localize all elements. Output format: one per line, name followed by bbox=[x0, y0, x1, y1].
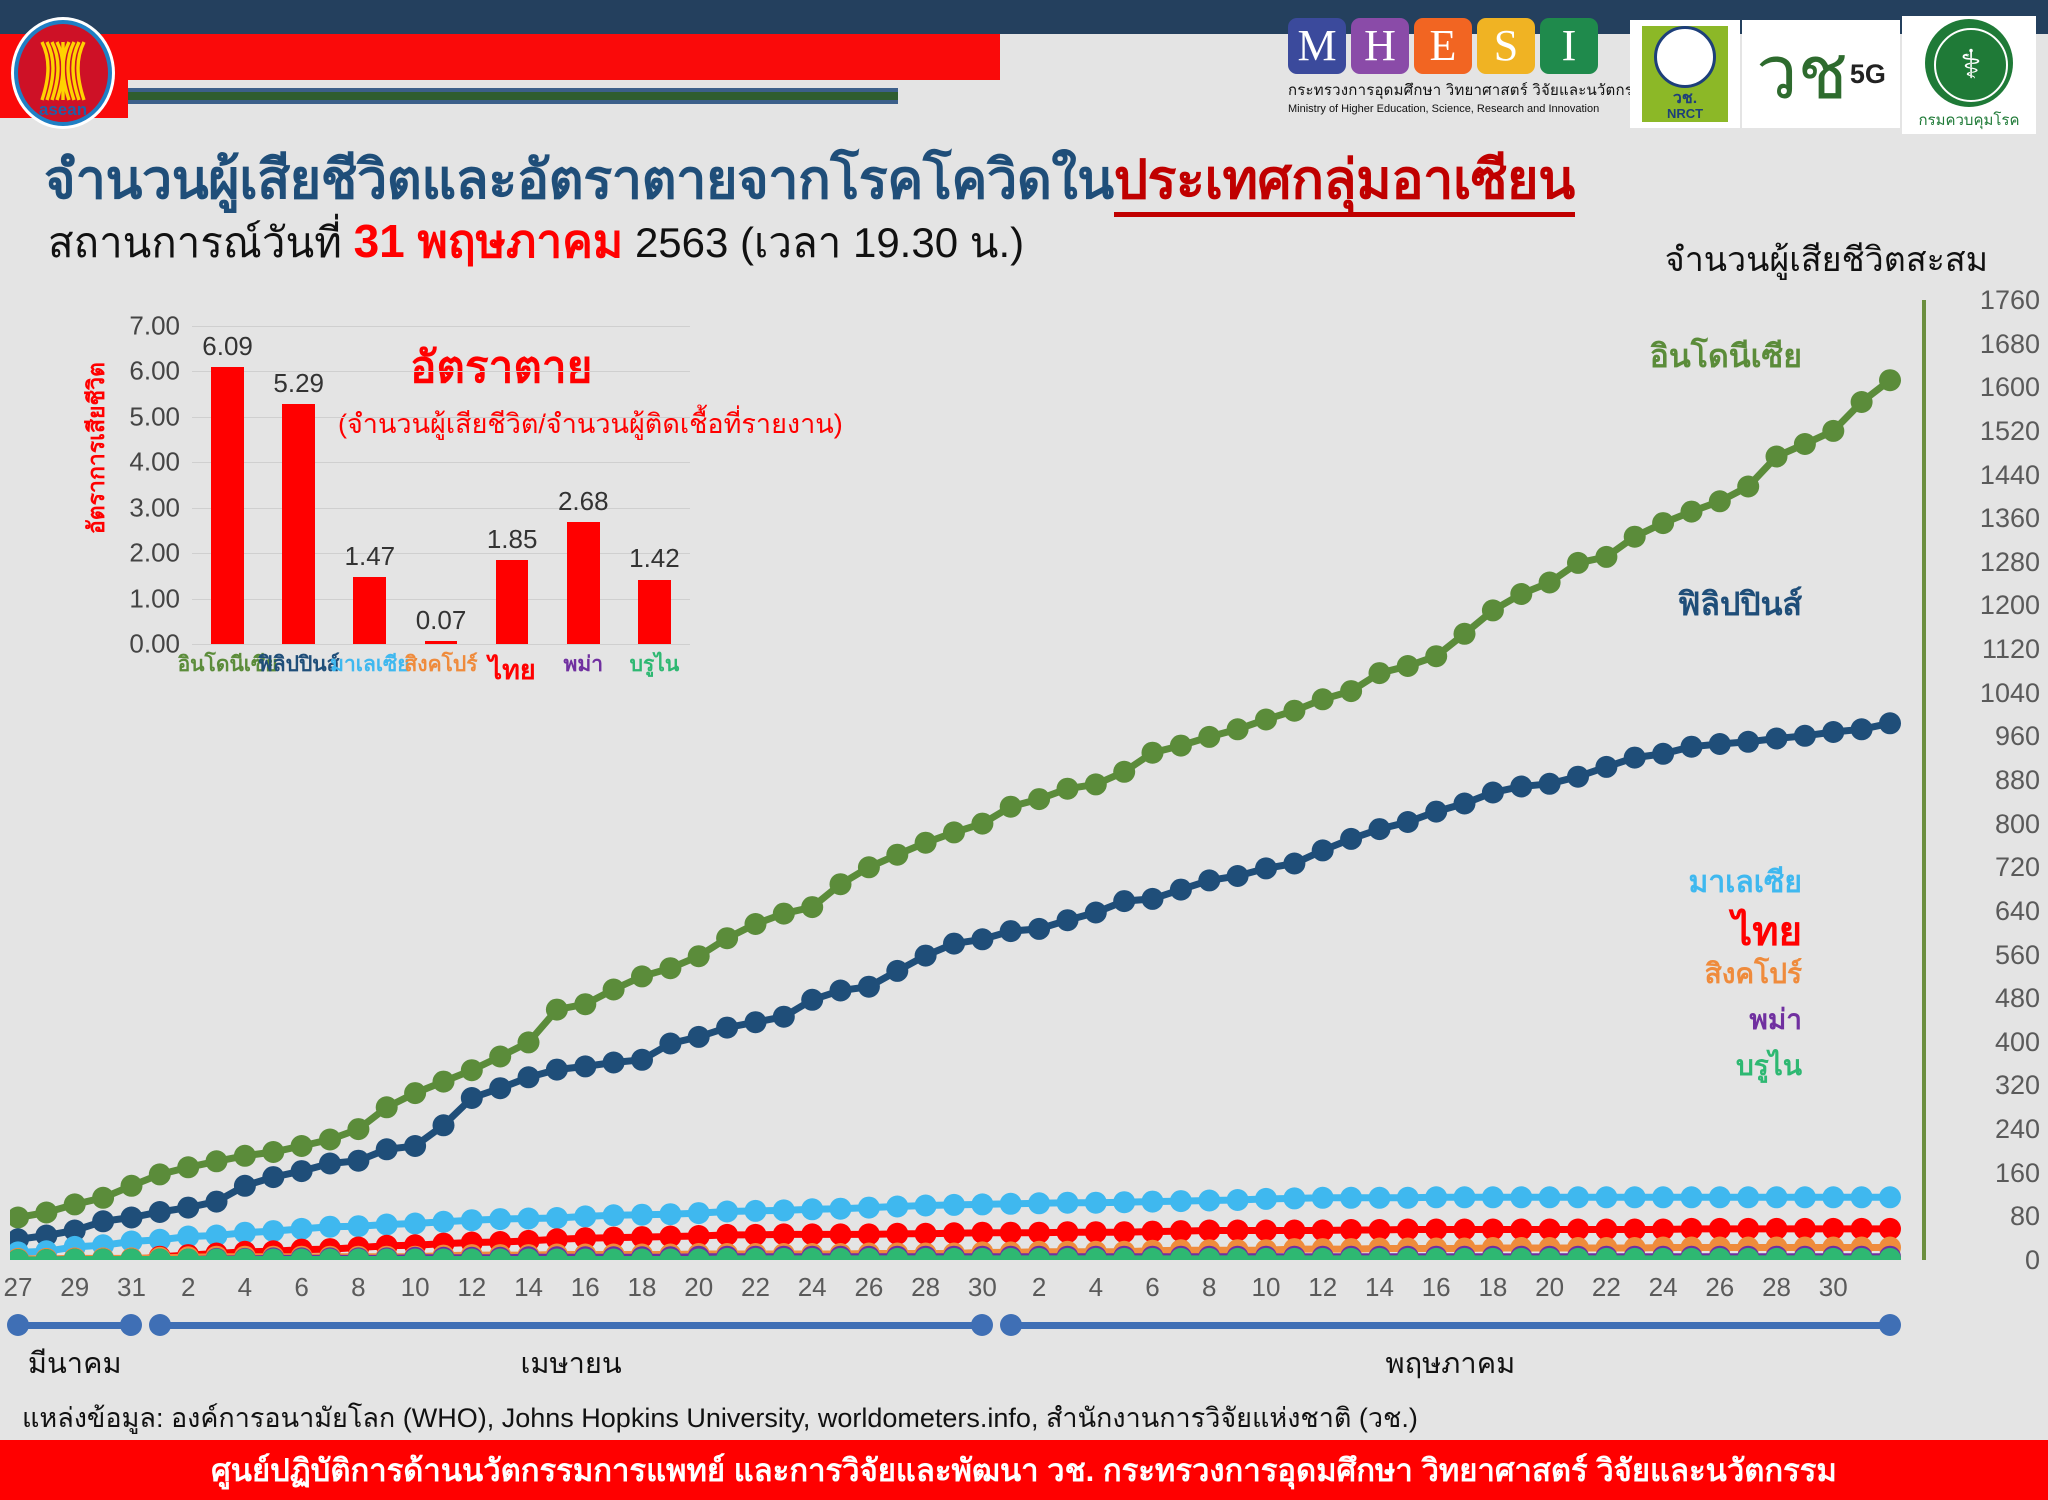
moph-caduceus-icon: ⚕ bbox=[1934, 28, 2008, 102]
page-title-plain: จำนวนผู้เสียชีวิตและอัตราตายจากโรคโควิดใ… bbox=[44, 150, 1114, 210]
inset-gridline bbox=[192, 599, 690, 600]
mhesi-letter-row: MHESI bbox=[1288, 18, 1618, 74]
inset-bar-category: บรูไน bbox=[630, 648, 680, 681]
case-fatality-rate-chart: อัตราการเสียชีวิต อัตราตาย (จำนวนผู้เสีย… bbox=[80, 310, 820, 690]
inset-bar-value: 6.09 bbox=[202, 331, 253, 362]
right-axis-tick: 1520 bbox=[1980, 418, 2040, 445]
header-red-stripe bbox=[0, 34, 1000, 80]
right-axis-tick: 1040 bbox=[1980, 680, 2040, 707]
right-axis-tick: 0 bbox=[2025, 1247, 2040, 1274]
x-axis-day-label: 22 bbox=[1592, 1272, 1621, 1303]
x-axis-day-label: 12 bbox=[1308, 1272, 1337, 1303]
inset-gridline bbox=[192, 508, 690, 509]
right-axis-tick: 1360 bbox=[1980, 505, 2040, 532]
mhesi-letter-e: E bbox=[1414, 18, 1472, 74]
month-endpoint-dot bbox=[1879, 1314, 1901, 1336]
x-axis-day-label: 2 bbox=[181, 1272, 195, 1303]
mhesi-letter-i: I bbox=[1540, 18, 1598, 74]
series-label-บรูไน: บรูไน bbox=[1736, 1052, 1802, 1080]
inset-bar-value: 5.29 bbox=[273, 368, 324, 399]
month-bar-เมษายน bbox=[160, 1322, 983, 1329]
x-axis-day-label: 14 bbox=[1365, 1272, 1394, 1303]
x-axis: 2729312468101214161820222426283024681012… bbox=[0, 1272, 2048, 1382]
inset-y-tick: 6.00 bbox=[129, 356, 180, 387]
inset-bar-category: ฟิลิปปินส์ bbox=[258, 648, 340, 681]
x-axis-day-label: 4 bbox=[1089, 1272, 1103, 1303]
x-axis-day-label: 4 bbox=[238, 1272, 252, 1303]
series-ฟิลิปปินส์ bbox=[10, 712, 1901, 1250]
inset-bar bbox=[353, 577, 386, 644]
month-bar-พฤษภาคม bbox=[1011, 1322, 1890, 1329]
right-axis-tick: 400 bbox=[1995, 1029, 2040, 1056]
right-axis-tick: 1440 bbox=[1980, 462, 2040, 489]
series-label-มาเลเซีย: มาเลเซีย bbox=[1689, 868, 1802, 898]
nrct-logo-inner: วช. NRCT bbox=[1642, 26, 1728, 122]
vch-5g-suffix: 5G bbox=[1850, 59, 1886, 90]
vch-glyph: วช bbox=[1756, 44, 1848, 103]
right-axis-tick: 640 bbox=[1995, 898, 2040, 925]
x-axis-day-label: 30 bbox=[1819, 1272, 1848, 1303]
inset-y-tick: 1.00 bbox=[129, 583, 180, 614]
right-axis-tick: 800 bbox=[1995, 811, 2040, 838]
x-axis-day-label: 18 bbox=[628, 1272, 657, 1303]
inset-gridline bbox=[192, 326, 690, 327]
x-axis-day-label: 12 bbox=[457, 1272, 486, 1303]
x-axis-day-label: 14 bbox=[514, 1272, 543, 1303]
x-axis-day-label: 22 bbox=[741, 1272, 770, 1303]
mhesi-letter-s: S bbox=[1477, 18, 1535, 74]
moph-seal-icon: ⚕ bbox=[1925, 19, 2013, 107]
inset-y-tick: 0.00 bbox=[129, 629, 180, 660]
right-axis-tick: 1600 bbox=[1980, 374, 2040, 401]
data-source-note: แหล่งข้อมูล: องค์การอนามัยโลก (WHO), Joh… bbox=[22, 1396, 1418, 1439]
x-axis-day-label: 20 bbox=[684, 1272, 713, 1303]
inset-bar bbox=[211, 367, 244, 644]
month-label-พฤษภาคม: พฤษภาคม bbox=[1386, 1340, 1516, 1386]
right-axis-tick: 720 bbox=[1995, 854, 2040, 881]
x-axis-day-label: 10 bbox=[401, 1272, 430, 1303]
x-axis-day-label: 28 bbox=[1762, 1272, 1791, 1303]
x-axis-day-label: 26 bbox=[1705, 1272, 1734, 1303]
header-navy-stripe bbox=[0, 0, 2048, 34]
right-axis-line bbox=[1922, 300, 1926, 1260]
inset-bar bbox=[496, 560, 529, 644]
series-label-พม่า: พม่า bbox=[1749, 1006, 1802, 1034]
x-axis-day-label: 2 bbox=[1032, 1272, 1046, 1303]
page-title-highlight: ประเทศกลุ่มอาเซียน bbox=[1114, 150, 1575, 217]
page-subtitle: สถานการณ์วันที่ 31 พฤษภาคม 2563 (เวลา 19… bbox=[48, 205, 1024, 278]
right-axis-ticks: 0801602403204004805606407208008809601040… bbox=[1936, 287, 2044, 1277]
x-axis-day-label: 29 bbox=[60, 1272, 89, 1303]
x-axis-day-label: 6 bbox=[294, 1272, 308, 1303]
inset-bar-value: 1.47 bbox=[345, 541, 396, 572]
x-axis-day-label: 24 bbox=[1649, 1272, 1678, 1303]
subtitle-date: 31 พฤษภาคม bbox=[354, 215, 624, 267]
nrct-thai-abbr: วช. bbox=[1673, 91, 1697, 107]
x-axis-day-label: 16 bbox=[571, 1272, 600, 1303]
subtitle-suffix: 2563 (เวลา 19.30 น.) bbox=[635, 219, 1024, 266]
inset-gridline bbox=[192, 371, 690, 372]
footer-banner: ศูนย์ปฏิบัติการด้านนวัตกรรมการแพทย์ และก… bbox=[0, 1440, 2048, 1500]
right-axis-tick: 480 bbox=[1995, 985, 2040, 1012]
moph-logo: ⚕ กรมควบคุมโรค bbox=[1902, 16, 2036, 134]
x-axis-day-label: 27 bbox=[4, 1272, 33, 1303]
inset-gridline bbox=[192, 417, 690, 418]
inset-bar bbox=[638, 580, 671, 645]
header-rule-green bbox=[128, 92, 898, 100]
series-label-อินโดนีเซีย: อินโดนีเซีย bbox=[1650, 340, 1802, 372]
asean-logo-icon: asean bbox=[8, 14, 118, 132]
x-axis-day-label: 18 bbox=[1478, 1272, 1507, 1303]
inset-y-tick: 4.00 bbox=[129, 447, 180, 478]
month-label-มีนาคม: มีนาคม bbox=[28, 1340, 122, 1386]
x-axis-day-label: 6 bbox=[1145, 1272, 1159, 1303]
month-endpoint-dot bbox=[120, 1314, 142, 1336]
asean-logo-wordmark: asean bbox=[39, 100, 87, 119]
inset-bar-value: 1.42 bbox=[629, 543, 680, 574]
inset-y-tick: 7.00 bbox=[129, 311, 180, 342]
nrct-wheel-icon bbox=[1654, 26, 1716, 88]
month-endpoint-dot bbox=[1000, 1314, 1022, 1336]
right-axis-tick: 160 bbox=[1995, 1160, 2040, 1187]
month-endpoint-dot bbox=[7, 1314, 29, 1336]
x-axis-day-label: 26 bbox=[854, 1272, 883, 1303]
inset-y-axis-label: อัตราการเสียชีวิต bbox=[78, 362, 114, 534]
right-axis-tick: 1680 bbox=[1980, 331, 2040, 358]
x-axis-day-label: 31 bbox=[117, 1272, 146, 1303]
inset-y-tick: 2.00 bbox=[129, 538, 180, 569]
header-band: asean MHESI กระทรวงการอุดมศึกษา วิทยาศาส… bbox=[0, 0, 2048, 118]
inset-bar bbox=[567, 522, 600, 644]
inset-bar bbox=[282, 404, 315, 644]
mhesi-thai-name: กระทรวงการอุดมศึกษา วิทยาศาสตร์ วิจัยและ… bbox=[1288, 78, 1618, 102]
month-endpoint-dot bbox=[149, 1314, 171, 1336]
right-axis-tick: 1280 bbox=[1980, 549, 2040, 576]
right-axis-tick: 240 bbox=[1995, 1116, 2040, 1143]
nrct-english-abbr: NRCT bbox=[1667, 107, 1703, 121]
right-axis-tick: 1200 bbox=[1980, 592, 2040, 619]
inset-bar-value: 0.07 bbox=[416, 605, 467, 636]
vch-5g-logo: วช 5G bbox=[1742, 20, 1900, 128]
mhesi-letter-h: H bbox=[1351, 18, 1409, 74]
nrct-logo: วช. NRCT bbox=[1630, 20, 1740, 128]
mhesi-english-name: Ministry of Higher Education, Science, R… bbox=[1288, 103, 1618, 115]
mhesi-letter-m: M bbox=[1288, 18, 1346, 74]
cumulative-deaths-label: จำนวนผู้เสียชีวิตสะสม bbox=[1665, 232, 1988, 286]
right-axis-tick: 960 bbox=[1995, 723, 2040, 750]
inset-y-tick: 5.00 bbox=[129, 401, 180, 432]
month-label-เมษายน: เมษายน bbox=[520, 1340, 621, 1386]
right-axis-tick: 80 bbox=[2010, 1203, 2040, 1230]
month-bar-มีนาคม bbox=[18, 1322, 131, 1329]
x-axis-day-label: 8 bbox=[351, 1272, 365, 1303]
x-axis-day-label: 10 bbox=[1252, 1272, 1281, 1303]
inset-bar-category: มาเลเซีย bbox=[330, 648, 409, 681]
inset-bar bbox=[425, 641, 458, 644]
inset-gridline bbox=[192, 462, 690, 463]
inset-bar-category: พม่า bbox=[564, 648, 603, 681]
right-axis-tick: 1760 bbox=[1980, 287, 2040, 314]
inset-y-tick: 3.00 bbox=[129, 492, 180, 523]
x-axis-day-label: 8 bbox=[1202, 1272, 1216, 1303]
month-endpoint-dot bbox=[971, 1314, 993, 1336]
right-axis-tick: 880 bbox=[1995, 767, 2040, 794]
series-label-ฟิลิปปินส์: ฟิลิปปินส์ bbox=[1678, 588, 1802, 620]
mhesi-logo: MHESI กระทรวงการอุดมศึกษา วิทยาศาสตร์ วิ… bbox=[1288, 18, 1618, 114]
inset-bar-category: สิงคโปร์ bbox=[404, 648, 477, 681]
series-label-ไทย: ไทย bbox=[1732, 912, 1802, 952]
inset-gridline bbox=[192, 644, 690, 645]
right-axis-tick: 320 bbox=[1995, 1072, 2040, 1099]
subtitle-prefix: สถานการณ์วันที่ bbox=[48, 219, 342, 266]
inset-bar-category: ไทย bbox=[489, 648, 536, 691]
x-axis-day-label: 20 bbox=[1535, 1272, 1564, 1303]
right-axis-tick: 560 bbox=[1995, 942, 2040, 969]
inset-gridline bbox=[192, 553, 690, 554]
header-rule-blue-lower bbox=[128, 100, 898, 104]
x-axis-day-label: 30 bbox=[968, 1272, 997, 1303]
footer-banner-text: ศูนย์ปฏิบัติการด้านนวัตกรรมการแพทย์ และก… bbox=[211, 1445, 1837, 1495]
inset-bar-value: 1.85 bbox=[487, 524, 538, 555]
series-label-สิงคโปร์: สิงคโปร์ bbox=[1705, 960, 1802, 988]
moph-caption: กรมควบคุมโรค bbox=[1918, 108, 2019, 132]
x-axis-day-label: 24 bbox=[798, 1272, 827, 1303]
x-axis-day-label: 28 bbox=[911, 1272, 940, 1303]
inset-bar-value: 2.68 bbox=[558, 486, 609, 517]
x-axis-day-label: 16 bbox=[1422, 1272, 1451, 1303]
right-axis-tick: 1120 bbox=[1982, 636, 2040, 663]
inset-plot-area: 0.001.002.003.004.005.006.007.006.09อินโ… bbox=[192, 326, 690, 644]
